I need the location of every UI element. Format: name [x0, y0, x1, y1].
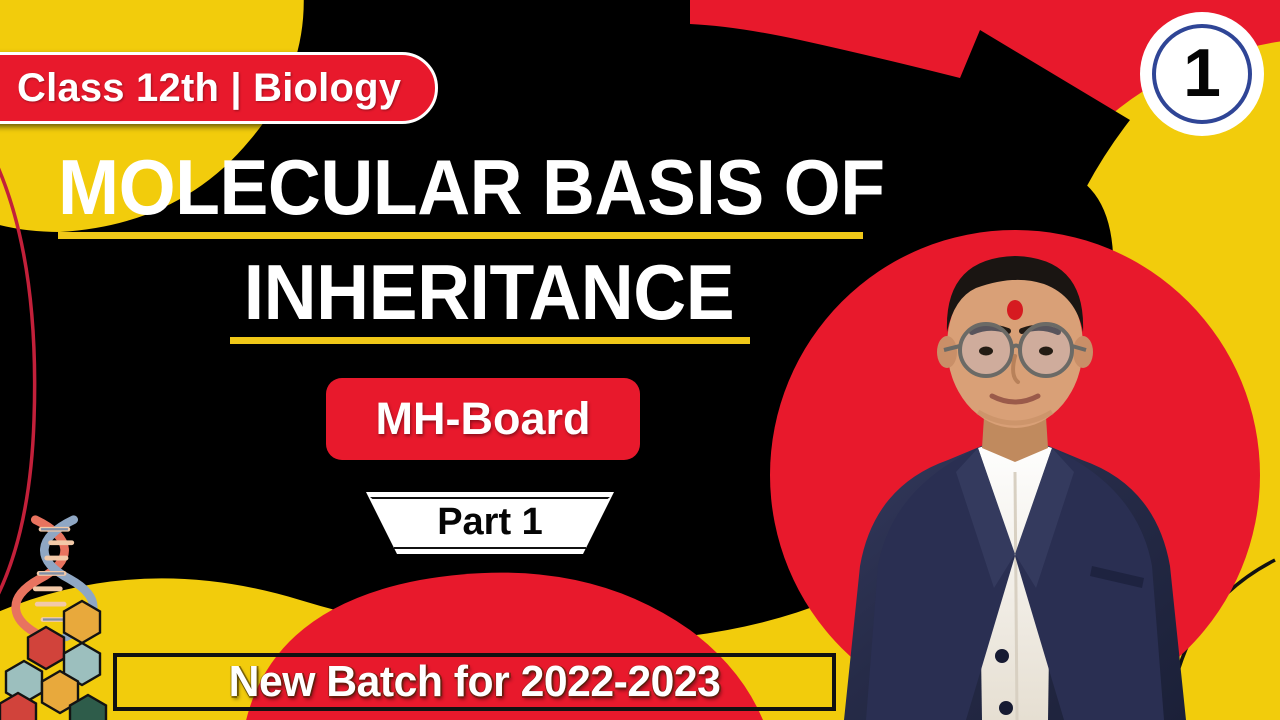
page-title: MOLECULAR BASIS OF INHERITANCE: [58, 150, 918, 360]
class-subject-label: Class 12th | Biology: [17, 66, 401, 111]
title-underline-2: [230, 337, 750, 344]
board-badge: MH-Board: [326, 378, 640, 460]
part-label: Part 1: [366, 492, 614, 554]
new-batch-label: New Batch for 2022-2023: [229, 657, 721, 707]
episode-number-label: 1: [1183, 39, 1221, 110]
new-batch-banner: New Batch for 2022-2023: [113, 653, 836, 711]
part-banner: Part 1: [366, 492, 614, 554]
episode-number-badge: 1: [1146, 18, 1258, 130]
title-line-1: MOLECULAR BASIS OF: [58, 150, 866, 225]
thumbnail-canvas: Class 12th | Biology MOLECULAR BASIS OF …: [0, 0, 1280, 720]
tilak: [1007, 300, 1023, 320]
title-line-2: INHERITANCE: [84, 255, 894, 330]
class-subject-badge: Class 12th | Biology: [0, 52, 438, 124]
title-underline-1: [58, 232, 863, 239]
board-label: MH-Board: [376, 393, 591, 445]
